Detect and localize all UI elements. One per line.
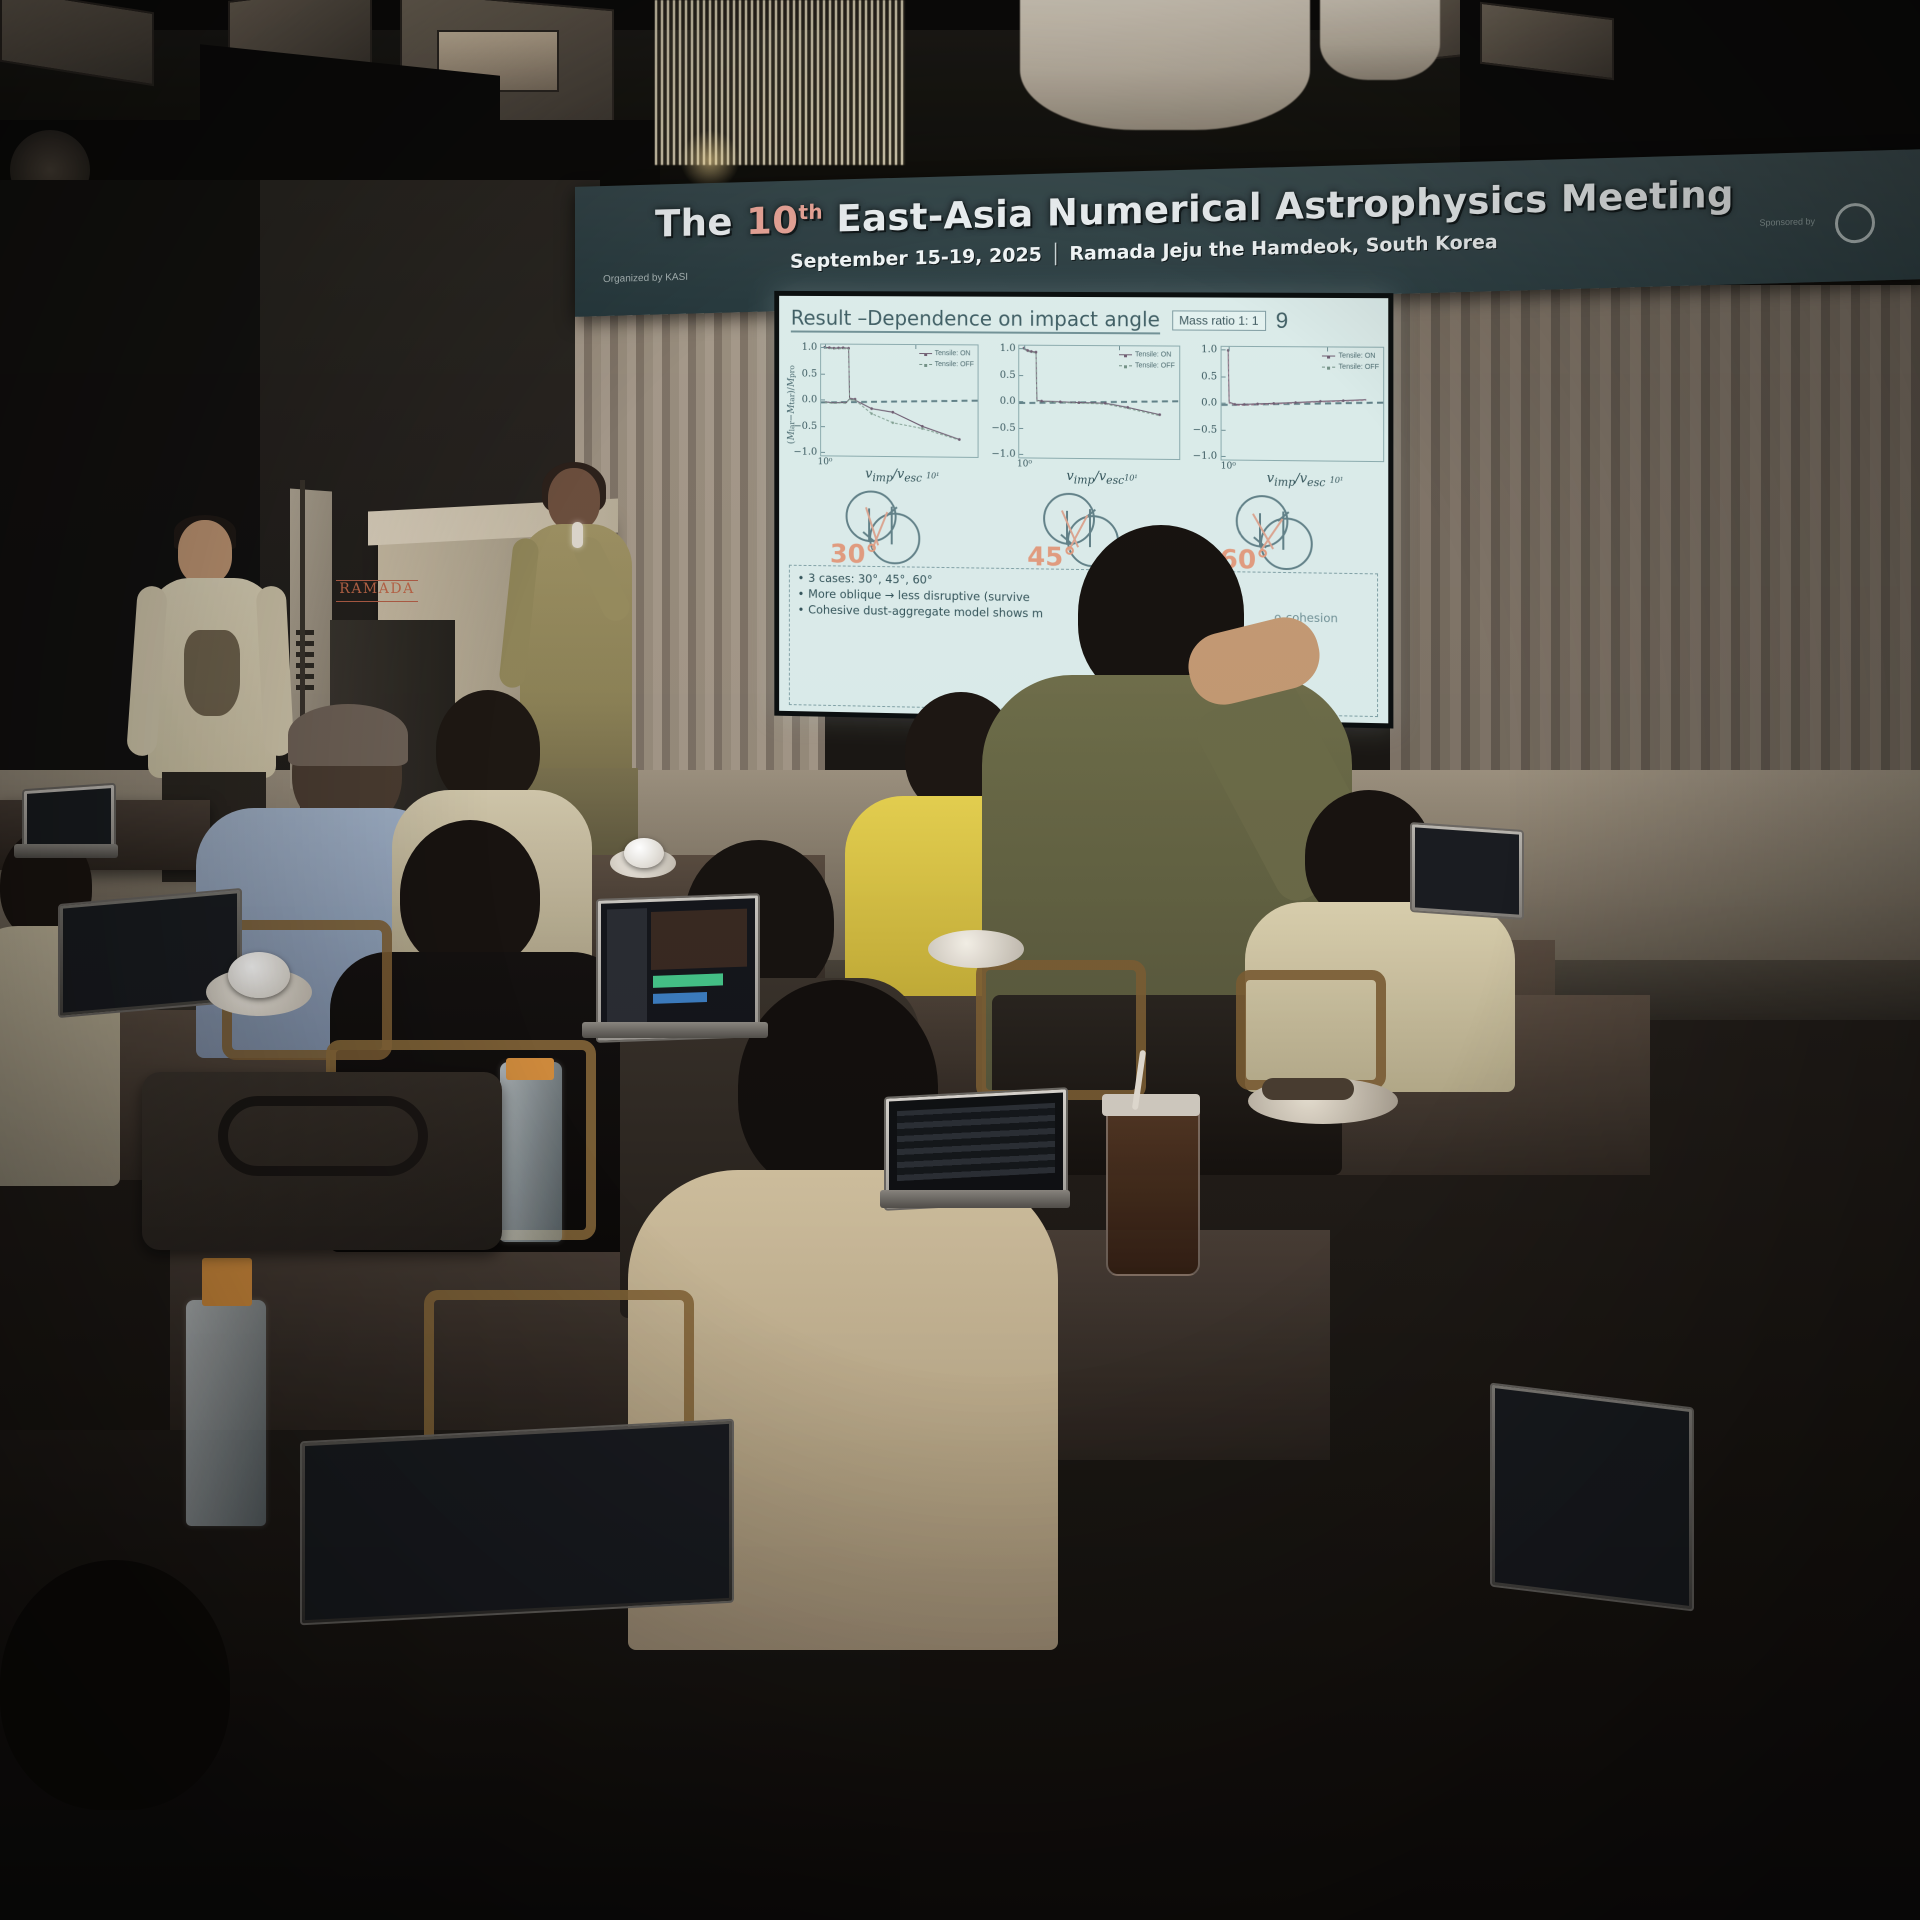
laptop-keyboard[interactable]: [582, 1022, 768, 1038]
legend-line-off-icon: [1119, 365, 1132, 366]
water-bottle: [186, 1300, 266, 1526]
conference-room-photo: The 10th East-Asia Numerical Astrophysic…: [0, 0, 1920, 1920]
chart-legend: Tensile: ON Tensile: OFF: [1119, 349, 1175, 371]
legend-line-off-icon: [1322, 367, 1335, 368]
legend-label: Tensile: OFF: [1135, 360, 1175, 371]
banner-sponsor-label: Sponsored by: [1759, 216, 1815, 228]
bottle-cap: [202, 1258, 252, 1306]
chart-plot-area: 1.0 0.5 0.0 −0.5 −1.0 10⁰ Tensile: ON Te…: [1220, 346, 1384, 462]
banner-separator: │: [1042, 243, 1069, 266]
ceiling-drape: [1320, 0, 1440, 80]
chart-ytick: 0.5: [802, 369, 818, 380]
presenter-head: [548, 468, 600, 530]
laptop-screen-panel[interactable]: [1410, 822, 1524, 920]
banner-title-pre: The: [655, 200, 746, 246]
legend-line-off-icon: [919, 364, 932, 365]
bullet-text: Cohesive dust-aggregate model shows m: [808, 603, 1043, 621]
coffee-cup: [624, 838, 664, 868]
ceiling-drape: [1020, 0, 1310, 130]
angle-diagram-30: 30°: [836, 490, 954, 563]
legend-label: Tensile: ON: [1339, 351, 1376, 362]
editor-sidebar[interactable]: [607, 908, 647, 1029]
mass-ratio-badge: Mass ratio 1: 1: [1172, 310, 1266, 331]
legend-label: Tensile: OFF: [935, 359, 974, 370]
audience-head: [436, 690, 540, 806]
banquet-chair: [976, 960, 1146, 1100]
progress-bar: [653, 973, 723, 987]
attendee-head: [178, 520, 232, 584]
chart-xlabel: vimp/vesc 10¹: [1220, 471, 1388, 491]
chart-ytick: 0.0: [802, 394, 818, 405]
water-bottle: [500, 1062, 562, 1242]
chart-ytick: −1.0: [1193, 451, 1218, 462]
laptop-display[interactable]: [27, 788, 111, 850]
laptop-screen-panel[interactable]: [596, 893, 760, 1043]
chart-ytick: 0.5: [1201, 371, 1217, 382]
chart-legend: Tensile: ON Tensile: OFF: [919, 348, 974, 370]
chart-row: (Mlar − Mtar)/Mpro 1.0 0.5: [787, 339, 1388, 494]
chart-ytick: 0.5: [1000, 370, 1016, 381]
bullet-text: 3 cases: 30°, 45°, 60°: [808, 571, 932, 587]
legend-label: Tensile: ON: [935, 348, 971, 359]
tshirt-print-graphic: [184, 630, 240, 716]
impact-angle-diagrams: 30° 45°: [789, 490, 1388, 570]
chart-ytick: 0.0: [1000, 396, 1016, 407]
chart-impact-angle-30: (Mlar − Mtar)/Mpro 1.0 0.5: [787, 339, 985, 490]
bottle-cap: [506, 1058, 554, 1080]
chart-ytick: 1.0: [1000, 343, 1016, 354]
angle-diagram-60: 60°: [1226, 495, 1348, 569]
audience-head: [400, 820, 540, 970]
banquet-chair: [1236, 970, 1386, 1090]
laptop-screen-panel[interactable]: [300, 1419, 734, 1626]
legend-line-on-icon: [1322, 355, 1335, 356]
chart-ytick: −0.5: [1193, 425, 1218, 436]
banner-title-rest: East-Asia Numerical Astrophysics Meeting: [823, 172, 1734, 240]
chart-ytick: 0.0: [1201, 397, 1217, 408]
chart-legend: Tensile: ON Tensile: OFF: [1322, 350, 1379, 373]
legend-line-on-icon: [919, 353, 932, 354]
slide-page-number: 9: [1276, 308, 1288, 334]
banner-location: Ramada Jeju the Hamdeok, South Korea: [1069, 231, 1497, 265]
chart-ytick: 1.0: [802, 342, 818, 353]
laptop-screen-panel[interactable]: [1490, 1382, 1694, 1611]
chart-impact-angle-45: 1.0 0.5 0.0 −0.5 −1.0 10⁰ Tensile: ON Te…: [985, 340, 1186, 492]
plate: [928, 930, 1024, 968]
laptop-display[interactable]: [889, 1092, 1063, 1205]
microphone: [572, 522, 583, 548]
chart-plot-area: 1.0 0.5 0.0 −0.5 −1.0 10⁰ Tensile: ON Te…: [1019, 345, 1180, 460]
laptop-display[interactable]: [305, 1424, 729, 1620]
chart-xtick-decade: 10¹: [1124, 473, 1137, 482]
legend-line-on-icon: [1119, 354, 1132, 355]
cup-lid: [1102, 1094, 1200, 1116]
chart-ytick: 1.0: [1201, 344, 1217, 355]
editor-panel[interactable]: [651, 909, 747, 970]
iced-coffee-cup: [1106, 1102, 1200, 1276]
terminal-text-lines: [897, 1103, 1055, 1181]
chart-impact-angle-60: 1.0 0.5 0.0 −0.5 −1.0 10⁰ Tensile: ON Te…: [1186, 342, 1388, 495]
legend-label: Tensile: OFF: [1339, 362, 1380, 373]
chart-plot-area: 1.0 0.5 0.0 −0.5 −1.0 10⁰ Tensile: ON Te…: [820, 344, 979, 458]
circle-logo-icon: [1835, 203, 1875, 244]
chart-xlabel: vimp/vesc 10¹: [820, 466, 985, 485]
banner-date: September 15-19, 2025: [790, 244, 1042, 273]
laptop-keyboard[interactable]: [14, 844, 118, 858]
banner-title: The 10th East-Asia Numerical Astrophysic…: [655, 172, 1734, 245]
banner-title-suffix: th: [798, 200, 823, 225]
audience-hair: [288, 704, 408, 766]
chart-xtick-decade: 10¹: [926, 471, 939, 480]
podium-sign: RAMADA: [336, 580, 418, 602]
status-bar: [653, 992, 707, 1004]
chart-ytick: −1.0: [793, 447, 817, 458]
slide-header: Result –Dependence on impact angle Mass …: [791, 304, 1378, 337]
laptop-display[interactable]: [601, 898, 755, 1037]
laptop-keyboard[interactable]: [880, 1190, 1070, 1208]
audience-head: [0, 1560, 230, 1810]
chart-xtick-decade: 10¹: [1330, 476, 1344, 485]
chart-xlabel: vimp/vesc10¹: [1019, 468, 1186, 487]
slide-title: Result –Dependence on impact angle: [791, 305, 1160, 334]
laptop-display[interactable]: [1415, 827, 1519, 914]
chart-ytick: −0.5: [793, 421, 817, 432]
banner-organizer: Organized by KASI: [603, 272, 688, 285]
backpack-strap: [218, 1096, 428, 1176]
chart-ytick: −1.0: [991, 449, 1015, 460]
legend-label: Tensile: ON: [1135, 349, 1171, 360]
flag-emblem: [296, 630, 314, 690]
chart-ytick: −0.5: [991, 423, 1015, 434]
banner-title-number: 10: [746, 199, 798, 243]
laptop-display[interactable]: [1495, 1388, 1689, 1606]
coffee-cup: [228, 952, 290, 998]
chandelier-glow: [680, 130, 740, 190]
food-item: [1262, 1078, 1354, 1100]
